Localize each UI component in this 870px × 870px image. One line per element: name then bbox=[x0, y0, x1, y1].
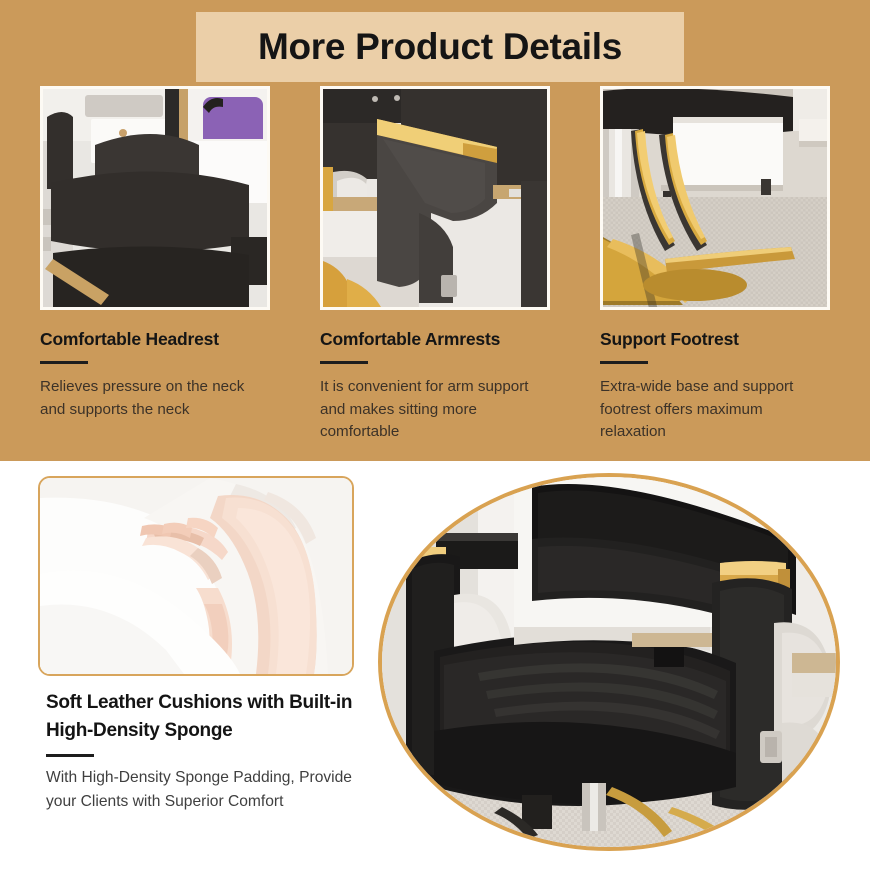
footrest-photo bbox=[603, 89, 827, 307]
feature-heading: Comfortable Headrest bbox=[40, 329, 270, 350]
feature-description: It is convenient for arm support and mak… bbox=[320, 376, 550, 444]
footrest-photo-frame bbox=[600, 86, 830, 310]
foam-press-photo bbox=[40, 478, 352, 674]
cushion-divider bbox=[46, 754, 94, 757]
headrest-photo-frame bbox=[40, 86, 270, 310]
feature-column-footrest: Support Footrest Extra-wide base and sup… bbox=[600, 86, 830, 444]
feature-column-headrest: Comfortable Headrest Relieves pressure o… bbox=[40, 86, 270, 421]
headrest-photo bbox=[43, 89, 267, 307]
page-title: More Product Details bbox=[258, 26, 622, 68]
feature-column-armrests: Comfortable Armrests It is convenient fo… bbox=[320, 86, 550, 444]
chair-seat-photo-frame bbox=[378, 473, 840, 851]
cushion-description: With High-Density Sponge Padding, Provid… bbox=[46, 766, 376, 813]
feature-divider bbox=[320, 361, 368, 364]
feature-heading: Comfortable Armrests bbox=[320, 329, 550, 350]
armrest-photo bbox=[323, 89, 547, 307]
feature-heading: Support Footrest bbox=[600, 329, 830, 350]
product-details-top-section: More Product Details bbox=[0, 0, 870, 461]
cushion-section: Soft Leather Cushions with Built-in High… bbox=[0, 461, 870, 870]
feature-description: Relieves pressure on the neck and suppor… bbox=[40, 376, 270, 421]
feature-divider bbox=[600, 361, 648, 364]
section-title-banner: More Product Details bbox=[196, 12, 684, 82]
feature-description: Extra-wide base and support footrest off… bbox=[600, 376, 830, 444]
armrest-photo-frame bbox=[320, 86, 550, 310]
cushion-heading: Soft Leather Cushions with Built-in High… bbox=[46, 689, 376, 744]
chair-seat-photo bbox=[382, 477, 836, 847]
feature-divider bbox=[40, 361, 88, 364]
foam-press-photo-frame bbox=[38, 476, 354, 676]
